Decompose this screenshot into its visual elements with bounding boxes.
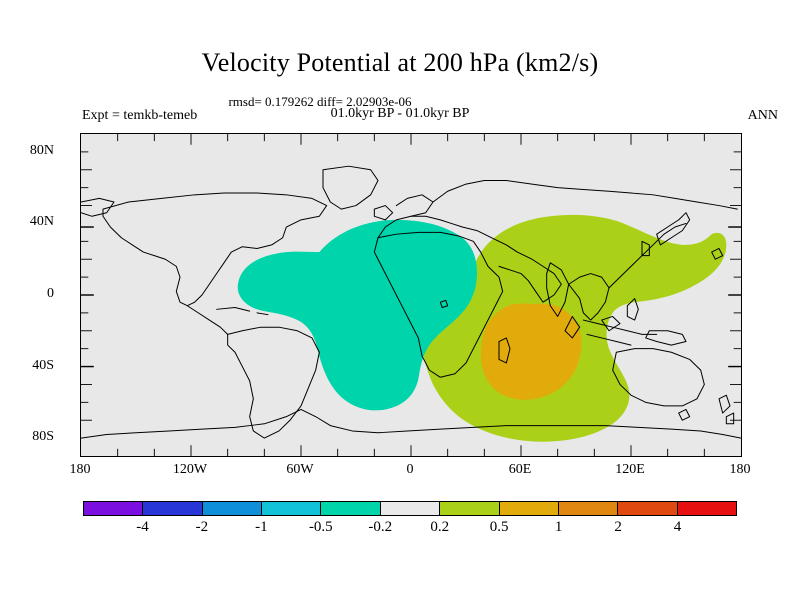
- colorbar-tick-label-9: 4: [643, 519, 713, 536]
- ticks-right: [730, 152, 741, 420]
- colorbar-segment-4: [321, 502, 380, 515]
- page-title: Velocity Potential at 200 hPa (km2/s): [0, 48, 800, 78]
- filled-contours: [238, 215, 727, 442]
- colorbar-segment-1: [143, 502, 202, 515]
- colorbar-segment-5: [381, 502, 440, 515]
- colorbar-segment-6: [440, 502, 499, 515]
- season-label: ANN: [0, 108, 778, 124]
- colorbar-segment-2: [203, 502, 262, 515]
- x-tick-label-120w: 120W: [160, 462, 220, 478]
- y-tick-label-0: 0: [0, 286, 54, 302]
- y-tick-label-40n: 40N: [0, 214, 54, 230]
- map-svg: [81, 134, 741, 456]
- x-tick-label-180w: 180: [50, 462, 110, 478]
- ticks-bottom: [118, 445, 705, 456]
- x-tick-label-180e: 180: [710, 462, 770, 478]
- figure-canvas: Velocity Potential at 200 hPa (km2/s) rm…: [0, 0, 800, 600]
- colorbar-segment-8: [559, 502, 618, 515]
- colorbar-segment-7: [500, 502, 559, 515]
- colorbar-segment-10: [678, 502, 736, 515]
- x-tick-label-60w: 60W: [270, 462, 330, 478]
- x-tick-label-0: 0: [380, 462, 440, 478]
- colorbar: [83, 501, 737, 516]
- colorbar-segment-0: [84, 502, 143, 515]
- y-tick-label-40s: 40S: [0, 358, 54, 374]
- colorbar-segment-9: [618, 502, 677, 515]
- y-tick-label-80n: 80N: [0, 143, 54, 159]
- colorbar-segment-3: [262, 502, 321, 515]
- map-plot-area: [80, 133, 742, 457]
- y-tick-label-80s: 80S: [0, 429, 54, 445]
- x-tick-label-60e: 60E: [490, 462, 550, 478]
- ticks-left: [81, 152, 92, 420]
- ticks-top: [118, 134, 705, 145]
- x-tick-label-120e: 120E: [600, 462, 660, 478]
